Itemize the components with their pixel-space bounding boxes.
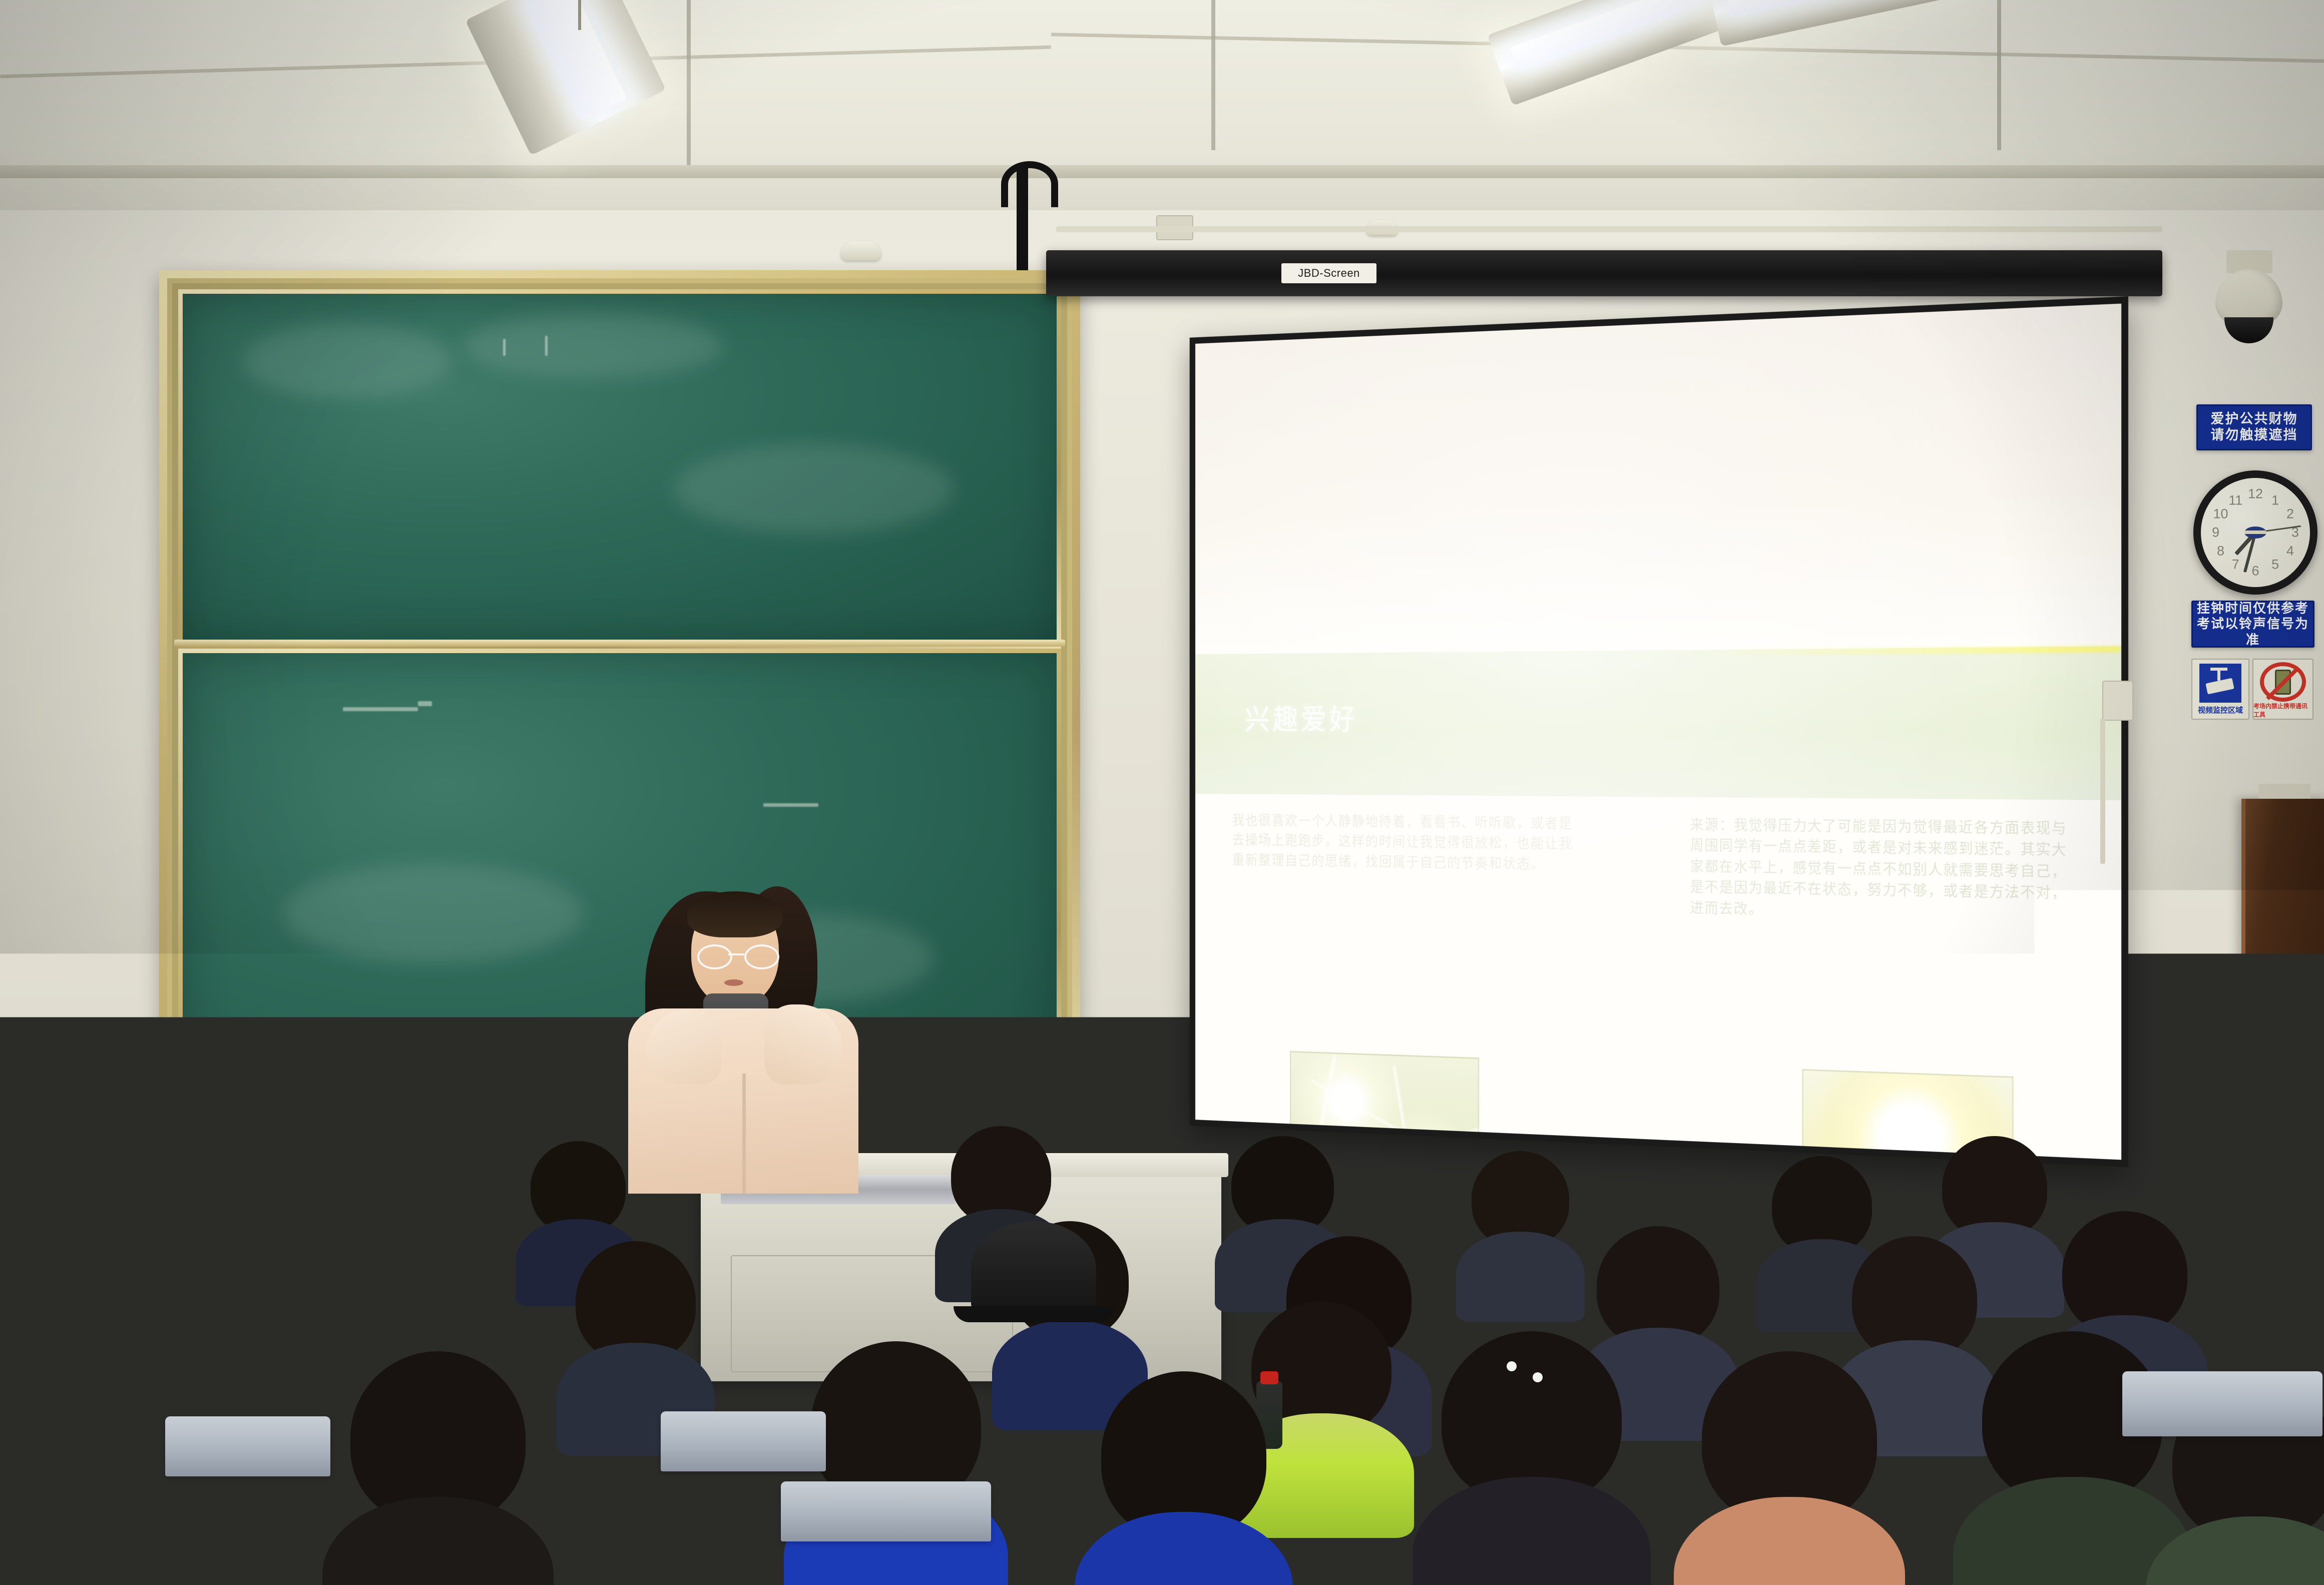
projection-screen: 兴趣爱好 我也很喜欢一个人静静地待着，看看书、听听歌，或者是去操场上跑跑步。这样… bbox=[1190, 296, 2128, 1167]
student-head bbox=[1472, 1151, 1569, 1306]
security-camera-icon bbox=[2211, 250, 2286, 350]
no-phone-icon bbox=[2260, 662, 2306, 702]
blackboard-panel-lower bbox=[178, 649, 1061, 1132]
classroom-photo: JBD-Screen 兴趣爱好 我也很喜欢一个人静静地待着，看看书、听听歌，或者… bbox=[0, 0, 2324, 1585]
clock-numeral: 11 bbox=[2228, 492, 2242, 508]
ceiling-hanger bbox=[1997, 0, 2001, 150]
sign-care-public-property: 爱护公共财物 请勿触摸遮挡 bbox=[2196, 404, 2312, 450]
slide-text-left: 我也很喜欢一个人静静地待着，看看书、听听歌，或者是去操场上跑跑步。这样的时间让我… bbox=[1232, 810, 1586, 875]
hair-clip bbox=[1533, 1372, 1543, 1382]
clock-numeral: 4 bbox=[2286, 544, 2294, 559]
clock-numeral: 7 bbox=[2232, 557, 2239, 573]
door-sticker bbox=[2275, 999, 2295, 1042]
slide-title: 兴趣爱好 bbox=[1244, 696, 1357, 738]
clock-numeral: 2 bbox=[2286, 506, 2294, 521]
ceiling-beam bbox=[0, 165, 2324, 178]
clock-numeral: 8 bbox=[2217, 544, 2224, 559]
blackboard-inner bbox=[172, 283, 1067, 1138]
cable-conduit bbox=[1056, 226, 2162, 232]
clock-numeral: 5 bbox=[2271, 557, 2279, 573]
clock-numeral: 12 bbox=[2248, 486, 2263, 502]
wall-socket[interactable] bbox=[2102, 681, 2133, 721]
clock-numeral: 10 bbox=[2213, 506, 2228, 521]
classroom-seat bbox=[781, 1481, 991, 1541]
student-head bbox=[350, 1351, 526, 1585]
sign-line-1: 爱护公共财物 bbox=[2211, 411, 2298, 427]
door-top-plate bbox=[2258, 784, 2310, 799]
cabinet-brand-plate: Haier bbox=[400, 1304, 466, 1321]
no-phone-sign: 考场内禁止携带通讯工具 bbox=[2252, 659, 2313, 720]
hoodie-zipper bbox=[742, 1074, 746, 1194]
ceiling bbox=[0, 0, 2324, 210]
classroom-seat bbox=[165, 1416, 330, 1476]
smoke-detector-icon bbox=[841, 241, 881, 260]
blackboard-eraser bbox=[378, 1125, 418, 1145]
classroom-seat bbox=[1301, 1531, 1512, 1585]
classroom-seat bbox=[661, 1411, 826, 1471]
clock-numeral: 6 bbox=[2251, 563, 2259, 579]
baseball-cap bbox=[971, 1221, 1096, 1316]
blackboard-divider-rail bbox=[174, 640, 1065, 647]
slide: 兴趣爱好 我也很喜欢一个人静静地待着，看看书、听听歌，或者是去操场上跑跑步。这样… bbox=[1195, 304, 2121, 1160]
sign-clock-reference: 挂钟时间仅供参考 考试以铃声信号为准 bbox=[2191, 601, 2314, 648]
student-head bbox=[576, 1241, 696, 1436]
screen-housing: JBD-Screen bbox=[1046, 250, 2162, 296]
sign-line-2: 考试以铃声信号为准 bbox=[2193, 616, 2313, 647]
ceiling-hanger bbox=[687, 0, 691, 165]
student-head bbox=[1702, 1351, 1877, 1585]
glasses-icon bbox=[697, 944, 775, 965]
slide-header-area bbox=[1195, 304, 2121, 654]
slide-text-right: 来源：我觉得压力大了可能是因为觉得最近各方面表现与周围同学有一点点差距，或者是对… bbox=[1690, 814, 2082, 926]
blackboard bbox=[159, 270, 1080, 1151]
chalk-box bbox=[320, 1124, 366, 1170]
cable-conduit bbox=[2100, 719, 2105, 864]
clock-numeral: 9 bbox=[2212, 525, 2219, 541]
screen-brand-label: JBD-Screen bbox=[1281, 263, 1376, 283]
cctv-camera-icon bbox=[2197, 662, 2243, 705]
slide-body: 我也很喜欢一个人静静地待着，看看书、听听歌，或者是去操场上跑跑步。这样的时间让我… bbox=[1195, 794, 2121, 1160]
blackboard-eraser bbox=[378, 1148, 418, 1168]
student-head bbox=[0, 1311, 145, 1571]
student-head bbox=[1101, 1371, 1266, 1585]
clock-center-hub bbox=[2244, 526, 2266, 539]
door-handle[interactable] bbox=[2259, 1189, 2307, 1202]
light-hanger bbox=[578, 0, 581, 30]
presenter bbox=[628, 873, 858, 1194]
clock-numeral: 1 bbox=[2271, 492, 2279, 508]
cctv-sign-label: 视频监控区域 bbox=[2198, 705, 2243, 715]
classroom-seat bbox=[2122, 1371, 2322, 1436]
blackboard-panel-upper bbox=[178, 289, 1061, 649]
no-phone-sign-label: 考场内禁止携带通讯工具 bbox=[2253, 702, 2312, 719]
student-head bbox=[811, 1341, 981, 1585]
student-head bbox=[190, 1216, 305, 1401]
student-head bbox=[1982, 1331, 2162, 1585]
classroom-door[interactable] bbox=[2241, 799, 2324, 1329]
sign-line-1: 挂钟时间仅供参考 bbox=[2197, 601, 2309, 616]
wall-clock: 12 1 2 3 4 5 6 7 8 9 10 11 bbox=[2193, 470, 2317, 595]
ceiling-hanger bbox=[1211, 0, 1215, 150]
sign-line-2: 请勿触摸遮挡 bbox=[2211, 427, 2298, 443]
cctv-area-sign: 视频监控区域 bbox=[2191, 659, 2249, 720]
hair-clip bbox=[1507, 1361, 1517, 1371]
